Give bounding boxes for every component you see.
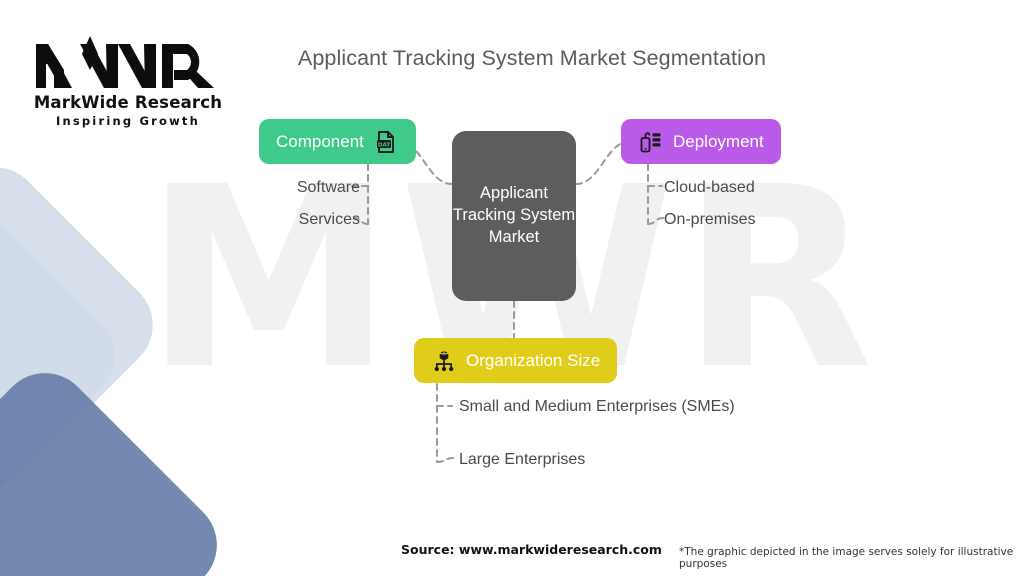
branch-label-organization-size: Organization Size xyxy=(466,351,600,371)
leaf-label-cloud-based: Cloud-based xyxy=(664,177,904,199)
page-title: Applicant Tracking System Market Segment… xyxy=(0,46,1024,71)
logo-tagline: Inspiring Growth xyxy=(28,114,228,128)
branch-label-component: Component xyxy=(276,132,364,152)
decor-square-mid xyxy=(0,171,134,539)
branch-pill-component[interactable]: Component DAT xyxy=(259,119,416,164)
center-node: Applicant Tracking System Market xyxy=(452,131,576,301)
branch-label-deployment: Deployment xyxy=(673,132,764,152)
connector-hub-to-deployment xyxy=(576,142,624,184)
branch-pill-deployment[interactable]: Deployment xyxy=(621,119,781,164)
disclaimer-note: *The graphic depicted in the image serve… xyxy=(679,546,1024,570)
leaf-label-on-premises: On-premises xyxy=(664,209,904,231)
infographic-canvas: MWR MarkWide Researc xyxy=(0,0,1024,576)
svg-text:DAT: DAT xyxy=(378,142,391,148)
logo-company-name: MarkWide Research xyxy=(28,93,228,112)
leaf-label-services: Services xyxy=(230,209,360,231)
decor-square-dark xyxy=(0,354,236,576)
leaf-label-smes: Small and Medium Enterprises (SMEs) xyxy=(459,396,759,418)
file-dat-icon: DAT xyxy=(373,129,399,155)
center-node-label: Applicant Tracking System Market xyxy=(452,183,576,249)
branch-pill-organization-size[interactable]: Organization Size xyxy=(414,338,617,383)
decorative-shapes xyxy=(0,170,310,576)
brand-logo: MarkWide Research Inspiring Growth xyxy=(28,30,228,128)
decor-square-light xyxy=(0,148,172,502)
leaf-label-large-enterprises: Large Enterprises xyxy=(459,449,759,471)
mobile-server-icon xyxy=(638,129,664,155)
leaf-label-software: Software xyxy=(230,177,360,199)
source-attribution: Source: www.markwideresearch.com xyxy=(401,542,662,557)
org-hierarchy-icon xyxy=(431,348,457,374)
connector-deployment-leaf-2 xyxy=(648,218,664,224)
connector-orgsize-leaf-2 xyxy=(437,458,454,462)
